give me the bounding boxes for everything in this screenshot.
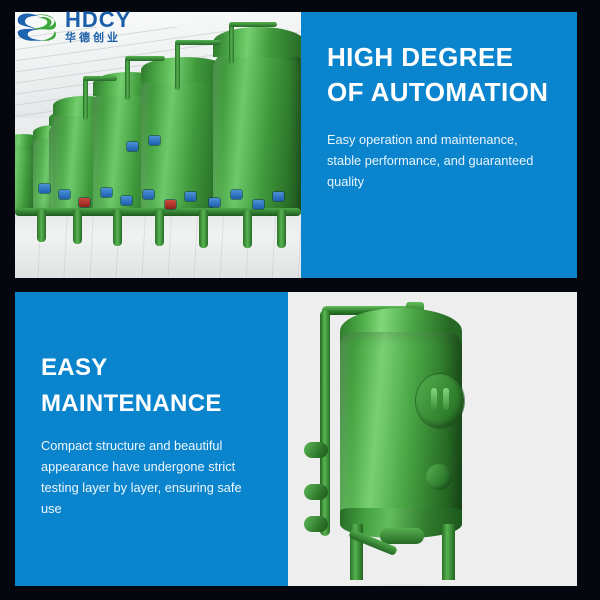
hdcy-swoosh-logo-icon	[14, 10, 58, 44]
brand-logo[interactable]: HDCY 华德创业	[14, 9, 131, 44]
side-nozzle	[304, 484, 328, 500]
valve-handle-icon	[39, 184, 50, 193]
panel-top-body: Easy operation and maintenance, stable p…	[327, 130, 537, 192]
bottom-drain-flange	[380, 528, 424, 544]
support-leg	[442, 524, 455, 580]
panel-easy-maintenance: EASY MAINTENANCE Compact structure and b…	[15, 292, 577, 586]
valve-handle-icon	[231, 190, 242, 199]
leg-pipe	[73, 210, 82, 244]
valve-handle-icon	[121, 196, 132, 205]
valve-handle-icon	[59, 190, 70, 199]
panel-high-degree-of-automation: HIGH DEGREE OF AUTOMATION Easy operation…	[15, 12, 577, 278]
panel-bottom-body: Compact structure and beautiful appearan…	[41, 436, 256, 520]
riser-arm	[175, 40, 221, 45]
riser-pipe	[175, 42, 180, 90]
tank-row-photo	[15, 12, 301, 278]
brand-wordmark: HDCY 华德创业	[65, 9, 131, 44]
valve-handle-icon	[79, 198, 90, 207]
tank-vessel	[213, 42, 301, 214]
panel-bottom-text-area: EASY MAINTENANCE Compact structure and b…	[15, 292, 288, 586]
valve-handle-icon	[101, 188, 112, 197]
brand-name-cn: 华德创业	[65, 33, 131, 44]
valve-handle-icon	[273, 192, 284, 201]
valve-handle-icon	[127, 142, 138, 151]
promo-page: HIGH DEGREE OF AUTOMATION Easy operation…	[0, 0, 600, 600]
panel-top-text-area: HIGH DEGREE OF AUTOMATION Easy operation…	[301, 12, 577, 278]
riser-arm	[229, 22, 277, 27]
leg-pipe	[113, 210, 122, 246]
riser-pipe	[83, 78, 88, 120]
leg-pipe	[37, 210, 46, 242]
valve-handle-icon	[185, 192, 196, 201]
manhole-cover	[416, 374, 464, 428]
leg-pipe	[155, 210, 164, 246]
riser-arm	[83, 76, 117, 81]
side-nozzle	[304, 442, 328, 458]
vessel-shadow	[342, 584, 472, 586]
brand-name-en: HDCY	[65, 9, 131, 31]
valve-handle-icon	[253, 200, 264, 209]
panel-top-title: HIGH DEGREE OF AUTOMATION	[327, 40, 553, 110]
leg-pipe	[243, 210, 252, 248]
valve-handle-icon	[149, 136, 160, 145]
valve-handle-icon	[209, 198, 220, 207]
riser-pipe	[125, 58, 130, 100]
handhole-cover	[426, 464, 452, 490]
panel-bottom-title: EASY MAINTENANCE	[41, 350, 268, 422]
leg-pipe	[277, 210, 286, 248]
leg-pipe	[199, 210, 208, 248]
riser-arm	[125, 56, 165, 61]
side-nozzle	[304, 516, 328, 532]
single-vessel-photo	[288, 292, 577, 586]
riser-pipe	[229, 24, 234, 64]
side-downpipe	[320, 310, 330, 536]
valve-handle-icon	[143, 190, 154, 199]
valve-handle-icon	[165, 200, 176, 209]
